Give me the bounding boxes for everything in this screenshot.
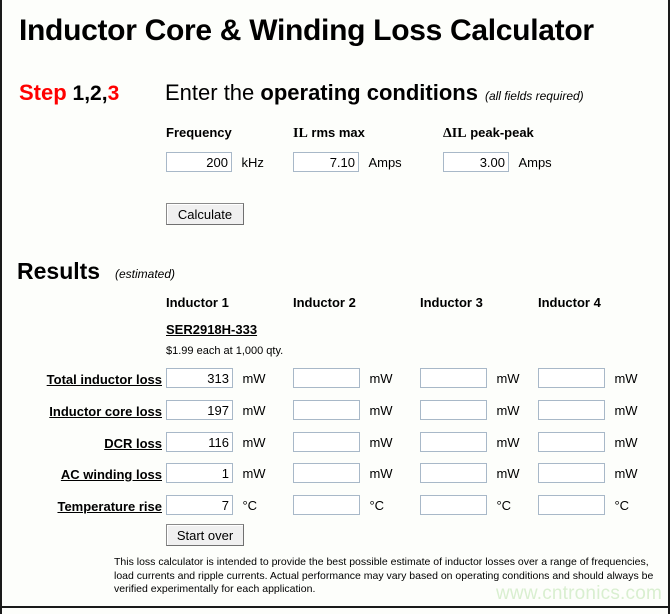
delta-il-unit: Amps [513,155,551,170]
cell-temp-rise-inductor-3: °C [420,495,511,515]
input-ac-winding-inductor-2[interactable] [293,463,360,483]
cell-core-loss-inductor-1: mW [166,400,266,420]
results-estimated-note: (estimated) [115,267,175,281]
input-core-loss-inductor-2[interactable] [293,400,360,420]
cell-temp-rise-inductor-4: °C [538,495,629,515]
row-label-total-inductor-loss[interactable]: Total inductor loss [14,372,162,387]
page-inner: Inductor Core & Winding Loss Calculator … [2,0,668,614]
unit-temp-rise-inductor-3: °C [491,498,511,513]
cell-ac-winding-inductor-2: mW [293,463,393,483]
unit-core-loss-inductor-4: mW [609,403,637,418]
page-title: Inductor Core & Winding Loss Calculator [19,14,594,48]
input-temp-rise-inductor-4[interactable] [538,495,605,515]
cell-dcr-loss-inductor-1: mW [166,432,266,452]
part-price-text: $1.99 each at 1,000 qty. [166,345,283,357]
il-rms-max-unit: Amps [363,155,401,170]
delta-il-peak-peak-label: ΔIL peak-peak [443,125,534,142]
cell-core-loss-inductor-3: mW [420,400,520,420]
cell-total-loss-inductor-4: mW [538,368,638,388]
site-watermark: www.cntronics.com [496,583,662,605]
delta-il-field-group: Amps [443,152,552,172]
unit-temp-rise-inductor-4: °C [609,498,629,513]
cell-temp-rise-inductor-2: °C [293,495,384,515]
row-label-dcr-loss[interactable]: DCR loss [14,436,162,451]
cell-total-loss-inductor-3: mW [420,368,520,388]
input-total-loss-inductor-3[interactable] [420,368,487,388]
unit-dcr-loss-inductor-3: mW [491,435,519,450]
unit-ac-winding-inductor-3: mW [491,466,519,481]
cell-core-loss-inductor-2: mW [293,400,393,420]
input-total-loss-inductor-1[interactable] [166,368,233,388]
results-heading: Results [17,258,100,285]
input-dcr-loss-inductor-1[interactable] [166,432,233,452]
unit-ac-winding-inductor-2: mW [364,466,392,481]
step-numbers-black: 1,2, [67,82,108,105]
cell-total-loss-inductor-1: mW [166,368,266,388]
unit-total-loss-inductor-2: mW [364,371,392,386]
unit-dcr-loss-inductor-2: mW [364,435,392,450]
cell-dcr-loss-inductor-4: mW [538,432,638,452]
instruction-light-text: Enter the [165,80,260,105]
frequency-input[interactable] [166,152,232,172]
input-total-loss-inductor-4[interactable] [538,368,605,388]
cell-core-loss-inductor-4: mW [538,400,638,420]
input-dcr-loss-inductor-2[interactable] [293,432,360,452]
input-temp-rise-inductor-2[interactable] [293,495,360,515]
unit-dcr-loss-inductor-4: mW [609,435,637,450]
unit-core-loss-inductor-2: mW [364,403,392,418]
step-indicator: Step 1,2,3 [19,80,119,106]
cell-dcr-loss-inductor-2: mW [293,432,393,452]
row-label-ac-winding-loss[interactable]: AC winding loss [14,467,162,482]
cell-ac-winding-inductor-4: mW [538,463,638,483]
input-ac-winding-inductor-4[interactable] [538,463,605,483]
column-header-inductor-3: Inductor 3 [420,295,483,310]
instruction-line: Enter the operating conditions(all field… [165,80,584,106]
frequency-field-group: kHz [166,152,264,172]
unit-core-loss-inductor-1: mW [237,403,265,418]
footer-divider [2,606,668,608]
instruction-note: (all fields required) [478,89,584,103]
step-numbers-red: 3 [108,82,120,105]
input-ac-winding-inductor-3[interactable] [420,463,487,483]
il-rms-max-input[interactable] [293,152,359,172]
unit-dcr-loss-inductor-1: mW [237,435,265,450]
frequency-unit: kHz [236,155,263,170]
unit-temp-rise-inductor-1: °C [237,498,257,513]
cell-ac-winding-inductor-1: mW [166,463,266,483]
calculate-button[interactable]: Calculate [166,203,244,225]
il-rms-max-field-group: Amps [293,152,402,172]
input-ac-winding-inductor-1[interactable] [166,463,233,483]
cell-total-loss-inductor-2: mW [293,368,393,388]
unit-total-loss-inductor-4: mW [609,371,637,386]
delta-il-symbol: ΔIL [443,126,467,141]
il-rms-max-label: IL rms max [293,125,365,142]
cell-temp-rise-inductor-1: °C [166,495,257,515]
column-header-inductor-4: Inductor 4 [538,295,601,310]
start-over-button[interactable]: Start over [166,524,244,546]
input-dcr-loss-inductor-3[interactable] [420,432,487,452]
step-word: Step [19,80,67,105]
delta-il-peak-peak-input[interactable] [443,152,509,172]
input-temp-rise-inductor-1[interactable] [166,495,233,515]
unit-total-loss-inductor-3: mW [491,371,519,386]
calculator-page: Inductor Core & Winding Loss Calculator … [0,0,670,614]
input-core-loss-inductor-1[interactable] [166,400,233,420]
il-symbol: IL [293,126,308,141]
delta-il-label-text: peak-peak [467,125,534,140]
column-header-inductor-1: Inductor 1 [166,295,229,310]
input-temp-rise-inductor-3[interactable] [420,495,487,515]
instruction-bold-text: operating conditions [260,80,478,105]
input-total-loss-inductor-2[interactable] [293,368,360,388]
unit-core-loss-inductor-3: mW [491,403,519,418]
part-number-link[interactable]: SER2918H-333 [166,322,257,337]
unit-ac-winding-inductor-1: mW [237,466,265,481]
input-core-loss-inductor-4[interactable] [538,400,605,420]
unit-total-loss-inductor-1: mW [237,371,265,386]
il-rms-max-label-text: rms max [308,125,365,140]
row-label-inductor-core-loss[interactable]: Inductor core loss [14,404,162,419]
input-core-loss-inductor-3[interactable] [420,400,487,420]
cell-dcr-loss-inductor-3: mW [420,432,520,452]
column-header-inductor-2: Inductor 2 [293,295,356,310]
frequency-label: Frequency [166,125,232,140]
input-dcr-loss-inductor-4[interactable] [538,432,605,452]
cell-ac-winding-inductor-3: mW [420,463,520,483]
unit-temp-rise-inductor-2: °C [364,498,384,513]
unit-ac-winding-inductor-4: mW [609,466,637,481]
row-label-temperature-rise[interactable]: Temperature rise [14,499,162,514]
